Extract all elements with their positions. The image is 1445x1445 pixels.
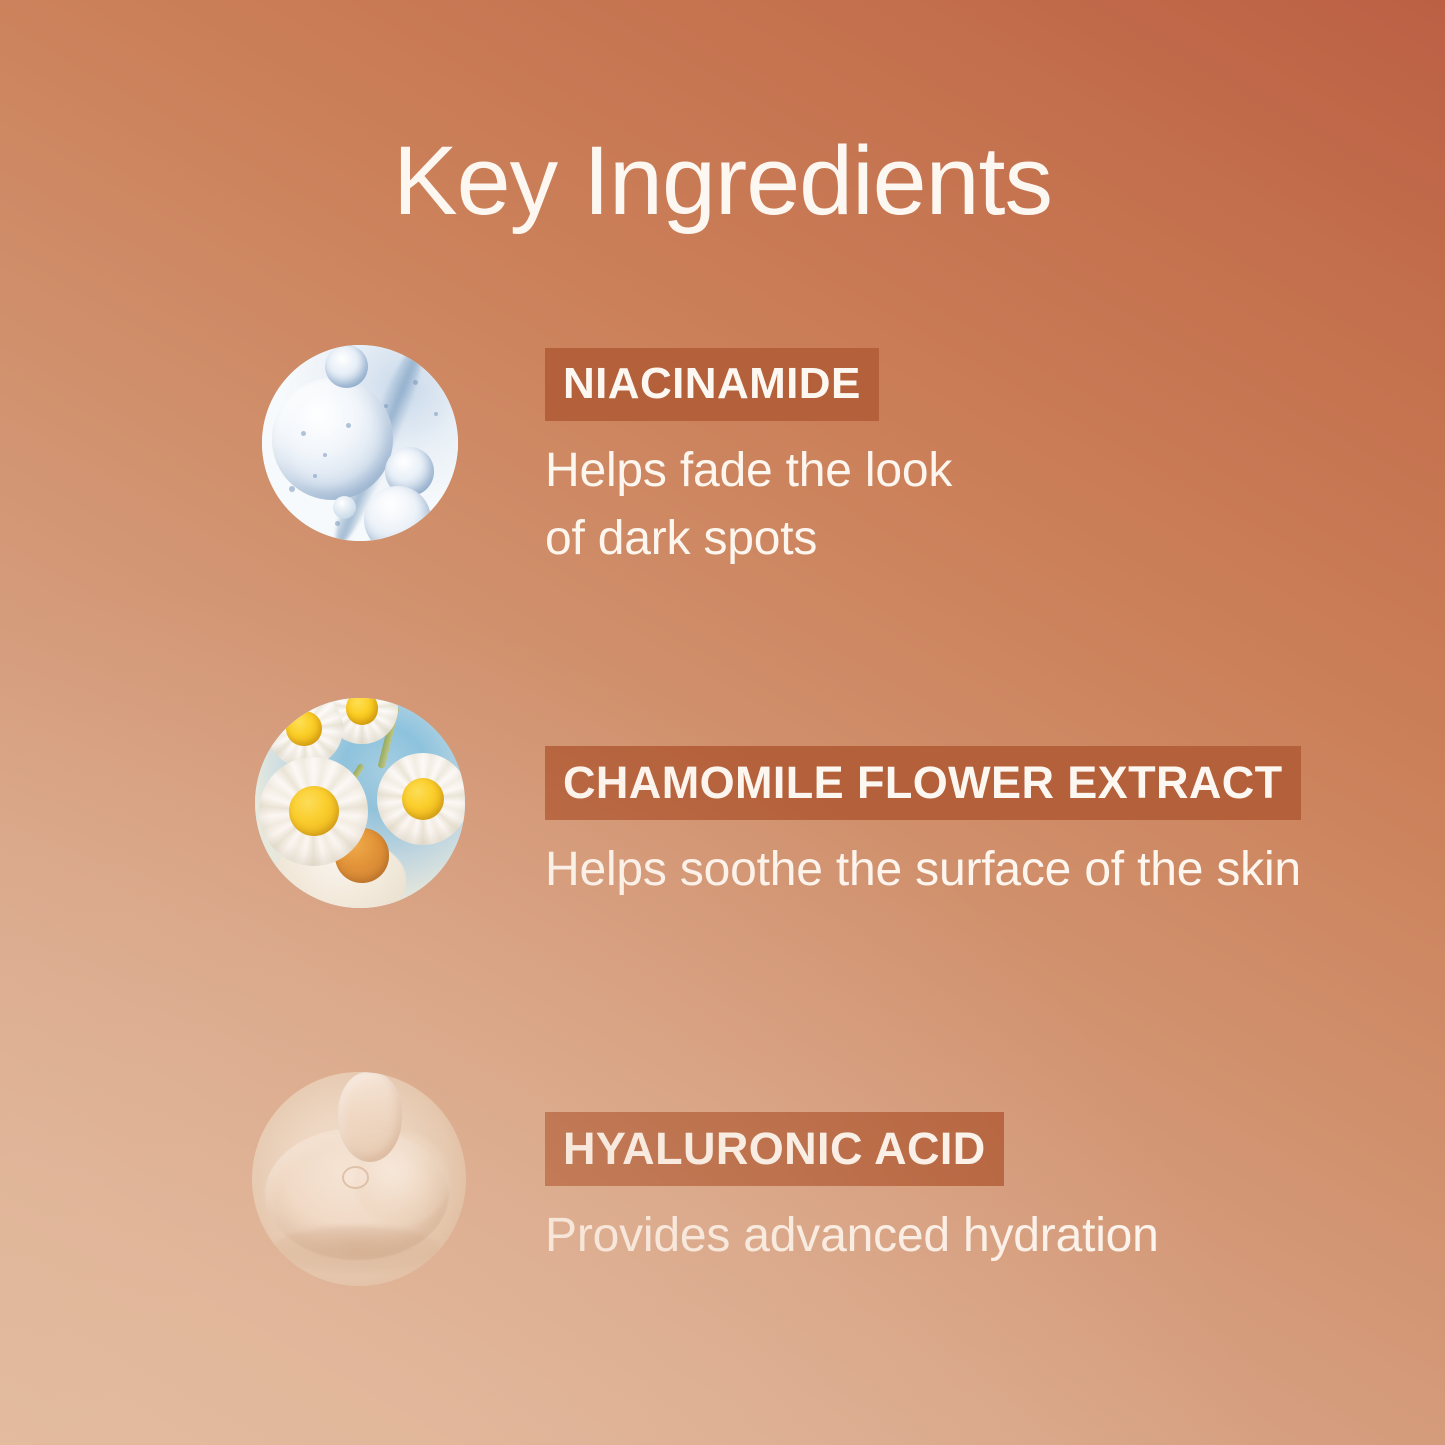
ingredient-name-badge: NIACINAMIDE: [545, 348, 879, 421]
ingredient-list: NIACINAMIDE Helps fade the look of dark …: [0, 0, 1445, 1445]
serum-droplet-swatch-icon: [252, 1072, 466, 1286]
ingredient-text: NIACINAMIDE Helps fade the look of dark …: [545, 348, 952, 573]
ingredient-description: Helps fade the look of dark spots: [545, 437, 952, 573]
ingredient-text: HYALURONIC ACID Provides advanced hydrat…: [545, 1112, 1159, 1270]
ingredient-text: CHAMOMILE FLOWER EXTRACT Helps soothe th…: [545, 746, 1301, 904]
gel-bubbles-swatch-icon: [262, 345, 458, 541]
key-ingredients-infographic: Key Ingredients: [0, 0, 1445, 1445]
ingredient-description: Provides advanced hydration: [545, 1202, 1159, 1270]
ingredient-name-badge: CHAMOMILE FLOWER EXTRACT: [545, 746, 1301, 820]
ingredient-name-badge: HYALURONIC ACID: [545, 1112, 1004, 1186]
ingredient-description: Helps soothe the surface of the skin: [545, 836, 1301, 904]
chamomile-flowers-swatch-icon: [255, 698, 465, 908]
